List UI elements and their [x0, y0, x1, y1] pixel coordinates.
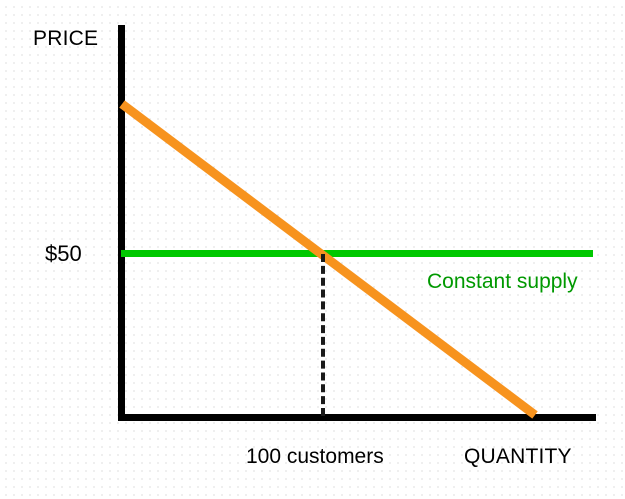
y-axis-title: PRICE [33, 28, 98, 49]
y-axis-tick-label-price: $50 [45, 243, 82, 265]
x-axis-title: QUANTITY [464, 446, 572, 467]
equilibrium-dashed-line [321, 254, 325, 416]
x-axis-tick-label-quantity: 100 customers [246, 446, 384, 467]
chart-canvas: PRICE QUANTITY $50 100 customers Constan… [0, 0, 625, 499]
supply-annotation-label: Constant supply [427, 271, 578, 292]
demand-line [118, 96, 538, 422]
